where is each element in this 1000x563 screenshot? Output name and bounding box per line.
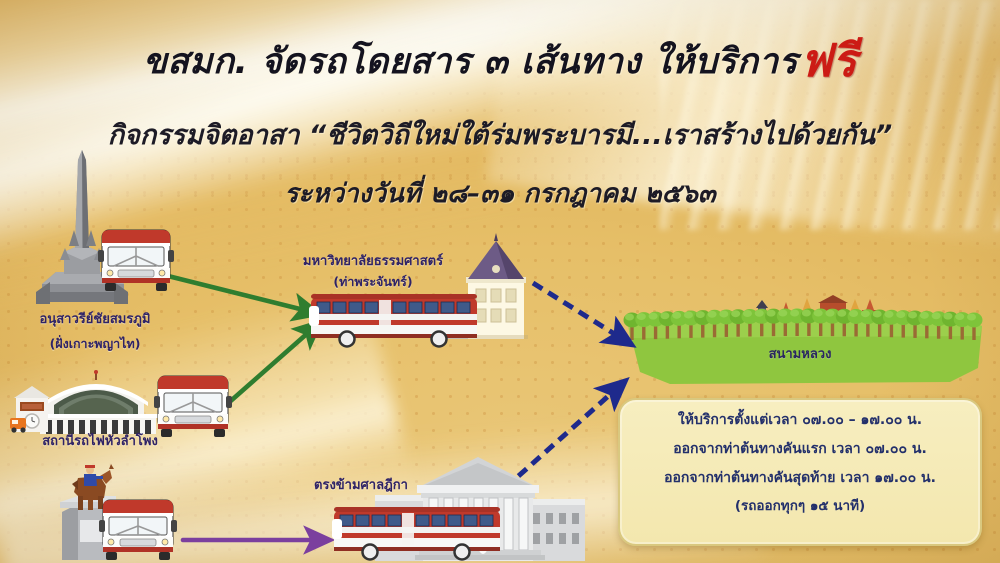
thammasat-label: มหาวิทยาลัยธรรมศาสตร์: [258, 250, 488, 271]
victory-monument-sublabel: (ฝั่งเกาะพญาไท): [0, 334, 190, 354]
info-line-last-departure: ออกจากท่าต้นทางคันสุดท้าย เวลา ๑๗.๐๐ น.: [630, 471, 970, 485]
poster-canvas: ขสมก. จัดรถโดยสาร ๓ เส้นทาง ให้บริการฟรี…: [0, 0, 1000, 563]
bus-side-thammasat: [307, 292, 482, 350]
info-line-first-departure: ออกจากท่าต้นทางคันแรก เวลา ๐๗.๐๐ น.: [630, 442, 970, 456]
headline-free-badge: ฟรี: [800, 34, 857, 87]
headline-block: ขสมก. จัดรถโดยสาร ๓ เส้นทาง ให้บริการฟรี…: [0, 24, 1000, 214]
victory-monument-label: อนุสาวรีย์ชัยสมรภูมิ: [0, 308, 190, 329]
info-line-service-hours: ให้บริการตั้งแต่เวลา ๐๗.๐๐ – ๑๗.๐๐ น.: [630, 413, 970, 427]
headline-line-2: กิจกรรมจิตอาสา “ชีวิตวิถีใหม่ใต้ร่มพระบา…: [0, 113, 1000, 156]
arrow-thammasat-to-sanamluang: [533, 283, 629, 343]
info-line-frequency: (รถออกทุกๆ ๑๕ นาที): [630, 500, 970, 514]
headline-line-3: ระหว่างวันที่ ๒๘–๓๑ กรกฎาคม ๒๕๖๓: [0, 173, 1000, 214]
bus-side-supreme-court: [330, 505, 505, 563]
hua-lamphong-label: สถานีรถไฟหัวลำโพง: [0, 430, 200, 451]
bus-front-royal-plaza: [97, 498, 179, 563]
thammasat-sublabel: (ท่าพระจันทร์): [258, 272, 488, 292]
service-info-box: ให้บริการตั้งแต่เวลา ๐๗.๐๐ – ๑๗.๐๐ น. ออ…: [618, 398, 982, 546]
headline-main-text: ขสมก. จัดรถโดยสาร ๓ เส้นทาง ให้บริการ: [143, 42, 798, 82]
supreme-court-label: ตรงข้ามศาลฎีกา: [296, 474, 426, 495]
headline-line-1: ขสมก. จัดรถโดยสาร ๓ เส้นทาง ให้บริการฟรี: [0, 24, 1000, 96]
bus-front-victory-monument: [96, 226, 176, 296]
